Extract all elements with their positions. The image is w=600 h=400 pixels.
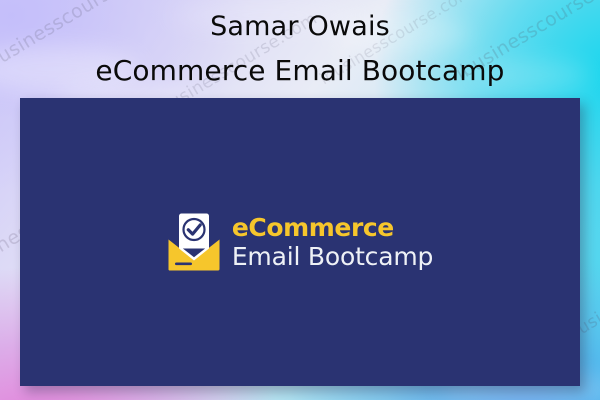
page-subtitle: eCommerce Email Bootcamp	[0, 57, 600, 85]
page-root: ibusinesscourse.com ibusinesscourse.com …	[0, 0, 600, 400]
brand-logo: eCommerce Email Bootcamp	[20, 98, 580, 386]
envelope-check-icon	[167, 212, 221, 272]
course-image-panel: eCommerce Email Bootcamp	[20, 98, 580, 386]
logo-line-email-bootcamp: Email Bootcamp	[232, 244, 433, 269]
logo-wordmark: eCommerce Email Bootcamp	[232, 215, 433, 269]
page-title: Samar Owais	[0, 13, 600, 40]
header: Samar Owais eCommerce Email Bootcamp	[0, 0, 600, 85]
logo-line-ecommerce: eCommerce	[232, 215, 433, 240]
